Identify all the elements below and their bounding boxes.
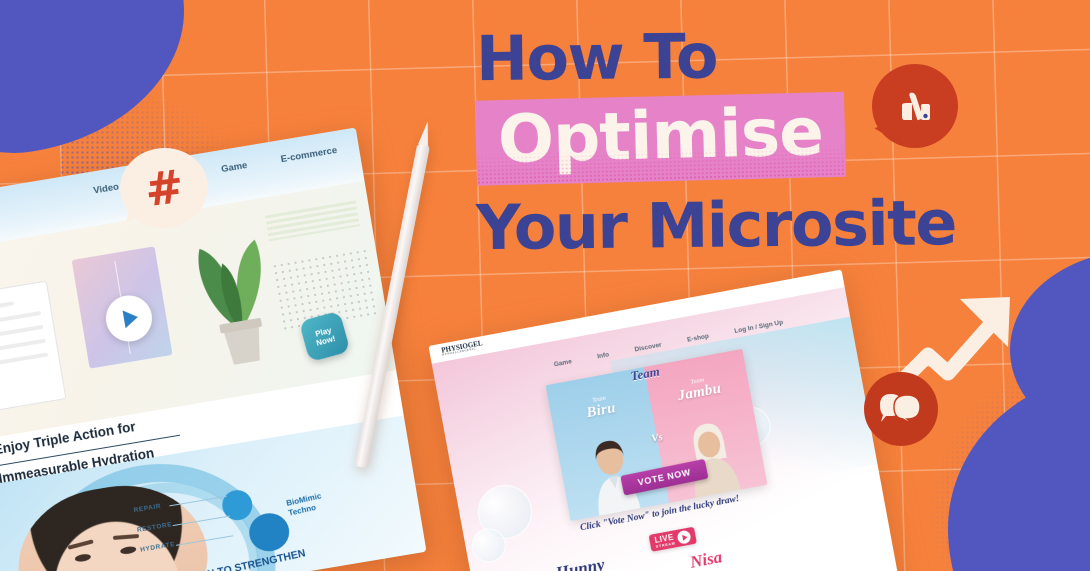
left-nav-item-game[interactable]: Game: [220, 160, 248, 175]
headline-line-3: Your Microsite: [476, 189, 1077, 259]
technology-name: BioMimic Techno: [285, 491, 324, 517]
versus-label: Vs: [650, 431, 664, 445]
left-nav-item-video[interactable]: Video: [93, 181, 120, 196]
poster-canvas: How To Optimise Your Microsite #: [0, 0, 1090, 571]
hashtag-bubble: #: [120, 148, 208, 232]
chat-bubbles-icon: [876, 389, 926, 429]
team-blue-title: Team Biru: [549, 387, 652, 429]
hashtag-icon: #: [142, 163, 186, 213]
headline-highlight-box: Optimise: [475, 92, 846, 186]
hero-card-graphic: [0, 281, 66, 415]
benefit-label-restore: RESTORE: [137, 521, 173, 534]
left-microsite-screen: Video Product Game E-commerce THE DERMAT…: [0, 127, 427, 571]
left-nav-item-ecommerce[interactable]: E-commerce: [280, 145, 338, 165]
headline-line-1: How To: [476, 21, 1077, 91]
talent-right-name: Nisa Kay: [689, 548, 727, 571]
right-device-mockup: PHYSIOGEL HYPOALLERGENIC Game Info Disco…: [428, 269, 901, 571]
play-icon: [123, 308, 140, 328]
chat-bubble-badge: [864, 372, 942, 450]
right-microsite-screen: PHYSIOGEL HYPOALLERGENIC Game Info Disco…: [428, 269, 901, 571]
benefit-label-hydrate: HYDRATE: [140, 541, 176, 554]
live-play-icon: [676, 530, 691, 545]
left-device-mockup: Video Product Game E-commerce THE DERMAT…: [0, 127, 427, 571]
team-pink-talent-photo: [674, 415, 748, 499]
headline-line-2-wrapper: Optimise: [476, 92, 1077, 184]
chat-bubble-body: [864, 372, 938, 446]
headline-line-2: Optimise: [497, 93, 824, 178]
poster-headline: How To Optimise Your Microsite: [476, 24, 1076, 256]
decor-blob-top-left: [0, 0, 201, 169]
